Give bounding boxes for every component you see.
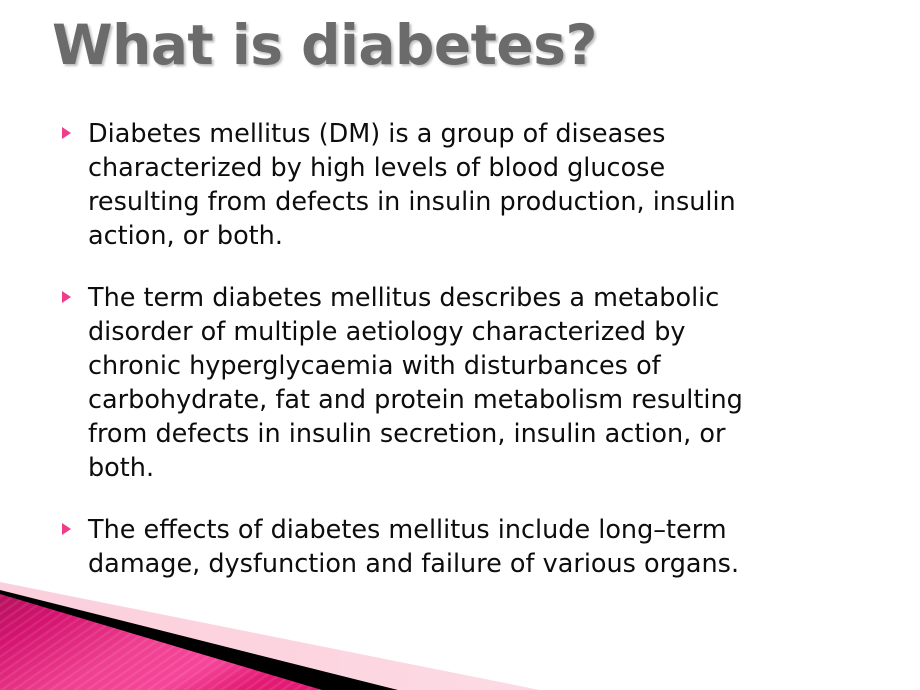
bullet-item: The effects of diabetes mellitus include…	[56, 513, 871, 581]
ribbon-band-magenta	[0, 594, 322, 690]
triangle-right-bullet-icon	[62, 291, 71, 303]
bullet-item: The term diabetes mellitus describes a m…	[56, 281, 871, 485]
ribbon-band-light-pink	[0, 582, 540, 690]
page-title: What is diabetes?	[52, 13, 872, 77]
bullet-text: The term diabetes mellitus describes a m…	[88, 281, 871, 485]
slide-canvas: What is diabetes? Diabetes mellitus (DM)…	[0, 0, 920, 690]
ribbon-band-black	[0, 590, 398, 690]
bottom-left-diagonal-ribbon-decoration	[0, 570, 580, 690]
ribbon-band-magenta-texture	[0, 594, 322, 690]
triangle-right-bullet-icon	[62, 127, 71, 139]
triangle-right-bullet-icon	[62, 523, 71, 535]
slide-body: Diabetes mellitus (DM) is a group of dis…	[56, 117, 871, 581]
bullet-text: The effects of diabetes mellitus include…	[88, 513, 871, 581]
bullet-text: Diabetes mellitus (DM) is a group of dis…	[88, 117, 871, 253]
bullet-item: Diabetes mellitus (DM) is a group of dis…	[56, 117, 871, 253]
